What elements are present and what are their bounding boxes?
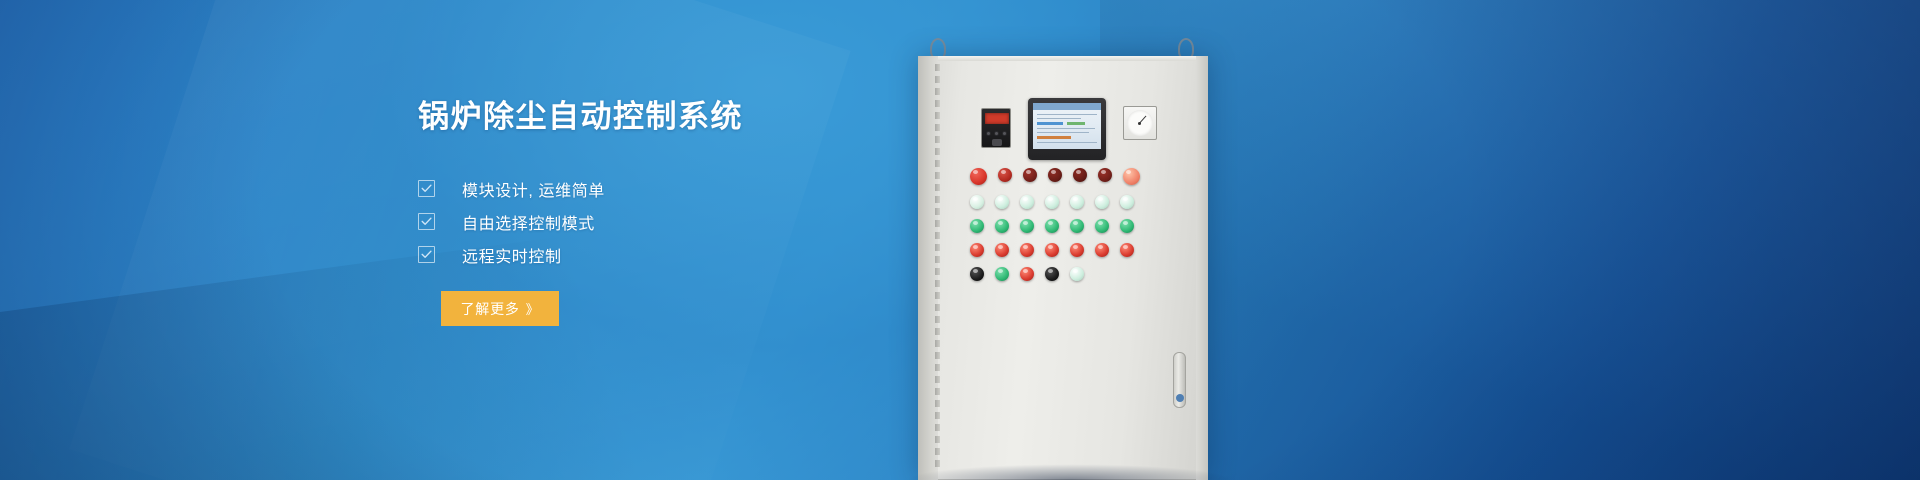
cabinet-door-handle: [1173, 352, 1186, 408]
indicator-lamp: [1120, 195, 1134, 209]
indicator-lamp: [1020, 243, 1034, 257]
cabinet-right-edge: [1196, 56, 1208, 480]
list-item: 自由选择控制模式: [418, 205, 938, 238]
cabinet-shadow: [905, 464, 1235, 480]
gauge-pin: [1138, 122, 1141, 125]
cabinet-hinges: [935, 64, 940, 470]
indicator-lamp: [998, 168, 1012, 182]
meter-button-1: [986, 131, 991, 136]
meter-knob: [992, 139, 1002, 146]
indicator-lamp: [1070, 243, 1084, 257]
indicator-lamp: [1120, 243, 1134, 257]
indicator-lamp: [970, 243, 984, 257]
list-item: 模块设计, 运维简单: [418, 172, 938, 205]
selector-switch: [970, 267, 984, 281]
indicator-lamp: [1070, 267, 1084, 281]
lamp-row: [970, 267, 1170, 281]
indicator-lamp: [1120, 219, 1134, 233]
feature-label: 模块设计, 运维简单: [462, 177, 605, 201]
cabinet-lock-icon: [1176, 394, 1184, 402]
page-title: 锅炉除尘自动控制系统: [418, 100, 938, 134]
hero-content: 锅炉除尘自动控制系统 模块设计, 运维简单 自由选择控制模式: [418, 100, 938, 326]
indicator-lamp: [995, 267, 1009, 281]
indicator-lamp: [1020, 195, 1034, 209]
indicator-lamp-grid: [970, 168, 1170, 291]
indicator-lamp: [1073, 168, 1087, 182]
cabinet-top-edge: [918, 56, 1208, 61]
indicator-lamp: [1070, 219, 1084, 233]
indicator-lamp: [970, 168, 987, 185]
chevron-right-icon: 》: [526, 299, 540, 318]
list-item: 远程实时控制: [418, 238, 938, 271]
indicator-lamp: [1045, 219, 1059, 233]
meter-button-3: [1002, 131, 1007, 136]
indicator-lamp: [995, 243, 1009, 257]
lamp-row: [970, 195, 1170, 209]
digital-meter-display: [985, 113, 1009, 124]
indicator-lamp: [1095, 219, 1109, 233]
lamp-row: [970, 243, 1170, 257]
indicator-lamp: [1020, 219, 1034, 233]
feature-label: 远程实时控制: [462, 243, 562, 267]
indicator-lamp: [1095, 243, 1109, 257]
hmi-touch-panel: [1028, 98, 1106, 160]
indicator-lamp: [1095, 195, 1109, 209]
indicator-lamp: [1045, 243, 1059, 257]
checkbox-checked-icon: [418, 213, 435, 230]
indicator-lamp: [1045, 195, 1059, 209]
indicator-lamp: [995, 219, 1009, 233]
checkbox-checked-icon: [418, 246, 435, 263]
indicator-lamp: [970, 219, 984, 233]
lamp-row: [970, 219, 1170, 233]
feature-list: 模块设计, 运维简单 自由选择控制模式 远程实时控制: [418, 172, 938, 271]
hero-banner: 锅炉除尘自动控制系统 模块设计, 运维简单 自由选择控制模式: [0, 0, 1920, 480]
indicator-lamp: [1048, 168, 1062, 182]
digital-meter: [981, 108, 1011, 148]
indicator-lamp: [1020, 267, 1034, 281]
indicator-lamp: [1023, 168, 1037, 182]
indicator-lamp: [1123, 168, 1140, 185]
lamp-row: [970, 168, 1170, 185]
indicator-lamp: [1098, 168, 1112, 182]
learn-more-label: 了解更多: [460, 299, 519, 319]
analog-gauge: [1123, 106, 1157, 140]
hmi-screen: [1033, 103, 1101, 149]
learn-more-button[interactable]: 了解更多 》: [441, 291, 559, 326]
meter-button-2: [994, 131, 999, 136]
checkbox-checked-icon: [418, 180, 435, 197]
cabinet-body: [918, 56, 1208, 480]
feature-label: 自由选择控制模式: [462, 210, 595, 234]
indicator-lamp: [1070, 195, 1084, 209]
control-cabinet-image: [900, 0, 1280, 480]
selector-switch: [1045, 267, 1059, 281]
indicator-lamp: [970, 195, 984, 209]
hmi-title-bar: [1033, 103, 1101, 110]
indicator-lamp: [995, 195, 1009, 209]
